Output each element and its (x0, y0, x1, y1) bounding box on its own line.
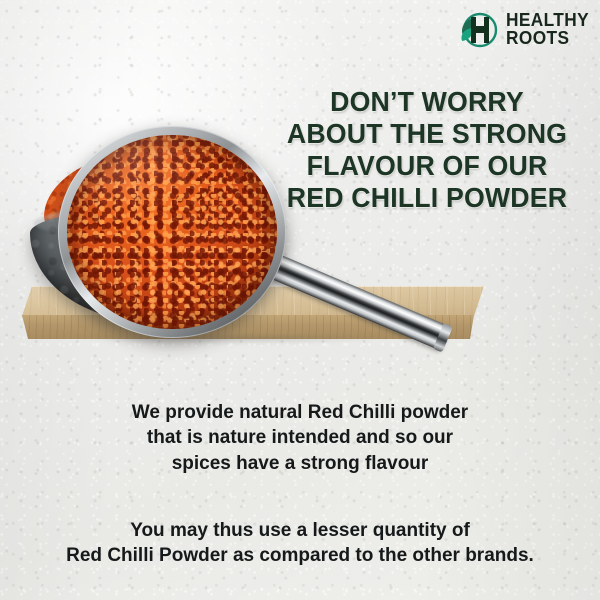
promotional-poster: HEALTHY ROOTS DON’T WORRY ABOUT THE STRO… (0, 0, 600, 600)
headline-line-3: FLAVOUR OF OUR (267, 150, 587, 182)
headline: DON’T WORRY ABOUT THE STRONG FLAVOUR OF … (262, 86, 592, 214)
brand-wordmark: HEALTHY ROOTS (506, 12, 592, 47)
lens-vignette (67, 135, 277, 329)
body-paragraph-2: You may thus use a lesser quantity of Re… (0, 518, 600, 569)
paragraph1-line-2: that is nature intended and so our (0, 425, 600, 450)
paragraph2-line-1: You may thus use a lesser quantity of (0, 518, 600, 543)
headline-line-4: RED CHILLI POWDER (267, 182, 587, 214)
magnifier-metal-ring (58, 126, 286, 338)
brand-name-line2: ROOTS (506, 30, 589, 48)
body-paragraph-1: We provide natural Red Chilli powder tha… (0, 400, 600, 476)
paragraph1-line-1: We provide natural Red Chilli powder (0, 400, 600, 425)
headline-line-1: DON’T WORRY (267, 86, 587, 118)
magnifier-lens-magnified-powder (67, 135, 277, 329)
leaf-h-circle-icon (455, 8, 499, 52)
paragraph1-line-3: spices have a strong flavour (0, 451, 600, 476)
headline-line-2: ABOUT THE STRONG (267, 118, 587, 150)
paragraph2-line-2: Red Chilli Powder as compared to the oth… (0, 543, 600, 568)
brand-logo[interactable]: HEALTHY ROOTS (455, 8, 592, 52)
